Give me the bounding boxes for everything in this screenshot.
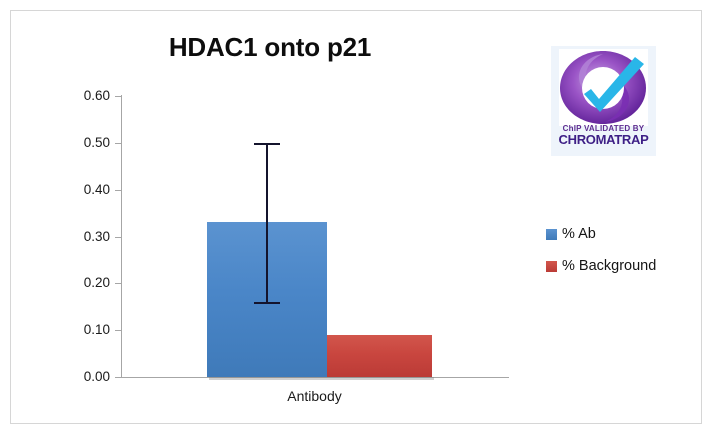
legend-label-percent-background: % Background [562, 258, 656, 274]
legend-swatch-icon-percent-background [546, 261, 557, 272]
plot-area [121, 96, 508, 377]
error-bar-cap-lower [254, 302, 280, 304]
legend-item-percent-background[interactable]: % Background [546, 250, 696, 282]
chart-legend: % Ab % Background [546, 218, 696, 282]
bar-percent-background[interactable] [327, 335, 432, 377]
chart-title: HDAC1 onto p21 [0, 32, 540, 63]
y-axis-tick-label: 0.30 [62, 230, 110, 244]
x-tick-label-antibody: Antibody [287, 388, 341, 404]
bar-percent-background-shadow [329, 377, 434, 380]
y-axis-tick-label: 0.10 [62, 323, 110, 337]
error-bar-cap-upper [254, 143, 280, 145]
y-axis-tick-label: 0.00 [62, 370, 110, 384]
y-axis-tick-label: 0.20 [62, 276, 110, 290]
chromatrap-logo: ChIP VALIDATED BY CHROMATRAP [551, 46, 656, 156]
chip-validated-swirl-icon [551, 46, 656, 128]
legend-swatch-icon-percent-ab [546, 229, 557, 240]
bar-percent-ab-shadow [209, 377, 329, 380]
legend-label-percent-ab: % Ab [562, 226, 596, 242]
error-bar-line [266, 143, 268, 302]
y-axis-tick-label: 0.50 [62, 136, 110, 150]
y-axis-tick-label: 0.60 [62, 89, 110, 103]
y-axis-tick-label: 0.40 [62, 183, 110, 197]
logo-caption-line2: CHROMATRAP [551, 133, 656, 146]
chart-container: HDAC1 onto p21 % Real Signal (Input) 0.6… [0, 0, 713, 431]
legend-item-percent-ab[interactable]: % Ab [546, 218, 696, 250]
y-axis-tick [115, 377, 122, 378]
logo-caption: ChIP VALIDATED BY CHROMATRAP [551, 125, 656, 146]
